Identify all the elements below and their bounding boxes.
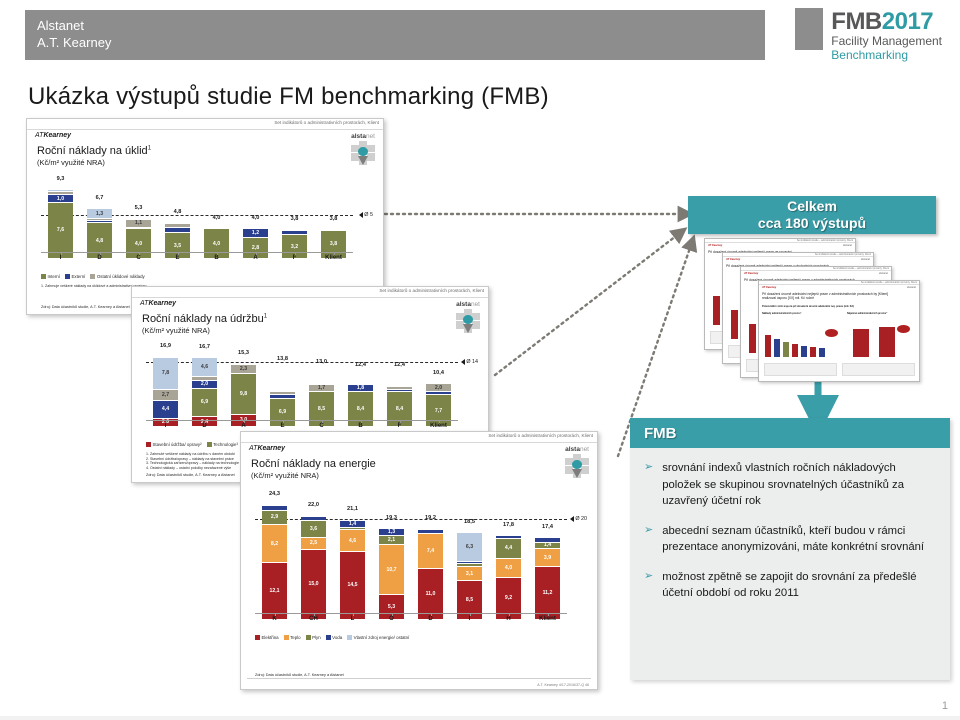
bar-segment: 2,1 — [379, 536, 403, 546]
legend-label: Externí — [71, 274, 85, 279]
average-marker: Ø 20 — [570, 516, 587, 522]
bar-column[interactable]: 1,07,6 — [48, 190, 72, 259]
x-axis-label: C — [302, 423, 341, 429]
slide-subtitle: (Kč/m² využité NRA) — [142, 326, 210, 335]
legend-item-2: Technologie³ — [207, 442, 238, 447]
brand-line-2: A.T. Kearney — [37, 34, 111, 51]
thumbnail-atkearney-logo: AT Kearney — [708, 244, 722, 247]
bar-total-label: 13,8 — [270, 356, 294, 362]
celkem-callout-box: Celkem cca 180 výstupů — [688, 196, 936, 234]
thumbnail-right-chart-label: Nájemné administrativních prostor² — [847, 312, 887, 315]
slide-brand-row: ATKearneyalstanet — [132, 298, 488, 311]
x-axis-label: H — [489, 616, 528, 622]
x-axis-label: C — [119, 255, 158, 261]
bar-segment: 6,9 — [192, 389, 216, 417]
legend-swatch-icon — [90, 274, 95, 279]
bullet-arrow-icon: ➢ — [644, 569, 653, 602]
bar-segment: 3,1 — [457, 567, 481, 581]
x-axis-label: I — [146, 423, 185, 429]
x-axis-label: D — [411, 616, 450, 622]
bar-column[interactable]: 4,44,09,2 — [496, 536, 520, 620]
slide-brand-row: ATKearneyalstanet — [241, 443, 597, 456]
chart-source: Zdroj: Data účastníků studie, A.T. Kearn… — [255, 673, 344, 677]
logo-year: 2017 — [882, 8, 933, 35]
thumbnail-context-text: Set indikátorů studie – administrativní … — [815, 253, 871, 256]
bar-segment: 4,6 — [340, 530, 364, 552]
bar-segment: 4,4 — [496, 539, 520, 559]
alstanet-flower-icon — [565, 454, 589, 478]
slide-title-footnote-marker: 1 — [148, 145, 151, 151]
thumbnail-atkearney-logo: AT Kearney — [744, 272, 758, 275]
thumbnail-subtitle: Potenciální roční úspora při dosažení úr… — [762, 305, 854, 308]
bar-column[interactable]: 3,62,515,0 — [301, 517, 325, 620]
bar-segment: 1,8 — [348, 385, 372, 392]
bar-total-label: 19,3 — [379, 515, 403, 521]
legend-swatch-icon — [347, 635, 352, 640]
thumbnail-context-bar: Set indikátorů studie – administrativní … — [723, 253, 873, 257]
legend-swatch-icon — [65, 274, 70, 279]
bar-column[interactable]: 2,39,83,0 — [231, 364, 255, 427]
thumbnail-mini-bar — [765, 335, 771, 357]
fmb-bullet-text: abecední seznam účastníků, kteří budou v… — [662, 523, 934, 556]
bar-segment: 12,1 — [262, 563, 286, 620]
chart-2: Ø 147,82,74,42,016,9I4,62,06,92,416,7D2,… — [146, 337, 458, 436]
bar-total-label: 3,8 — [282, 216, 306, 222]
legend-label: Voda — [332, 635, 342, 640]
slide-title-footnote-marker: 1 — [264, 313, 267, 319]
bar-total-label: 12,4 — [387, 362, 411, 368]
x-axis-label: B — [341, 423, 380, 429]
bar-segment: 4,0 — [496, 559, 520, 577]
atkearney-logo: ATKearney — [249, 445, 285, 452]
fmb-bullet-list: ➢srovnání indexů vlastních ročních nákla… — [630, 448, 950, 602]
bar-segment: 2,0 — [192, 381, 216, 389]
thumbnail-mini-bar — [810, 347, 816, 357]
x-axis-label: A — [224, 423, 263, 429]
bar-segment: 9,8 — [231, 374, 255, 414]
thumbnail-context-bar: Set indikátorů studie – administrativní … — [741, 267, 891, 271]
thumbnail-context-text: Set indikátorů studie – administrativní … — [861, 281, 917, 284]
bar-column[interactable]: 4,62,06,92,4 — [192, 358, 216, 427]
bar-total-label: 9,3 — [48, 176, 72, 182]
alstanet-logo: alstanet — [456, 301, 480, 308]
legend-swatch-icon — [306, 635, 311, 640]
bar-segment: 4,6 — [192, 358, 216, 377]
bar-segment: 2,9 — [262, 511, 286, 525]
thumbnail-alstanet-logo: alstanet — [843, 244, 852, 247]
legend-item-5: Vlastní zdroj energie/ ostatní — [347, 635, 409, 640]
bar-segment: 7,8 — [153, 358, 177, 390]
thumbnail-mini-bar — [801, 346, 807, 357]
legend-swatch-icon — [284, 635, 289, 640]
alstanet-logo: alstanet — [565, 446, 589, 453]
thumbnail-mini-bar — [792, 344, 798, 357]
bar-total-label: 17,8 — [496, 522, 520, 528]
fmb-panel-header: FMB — [630, 418, 950, 448]
thumbnail-left-chart-label: Náklady administrativních prostor¹ — [762, 312, 801, 315]
bar-total-label: 4,8 — [165, 209, 189, 215]
bar-segment: 1,0 — [48, 195, 72, 202]
thumbnail-note-box — [842, 363, 915, 376]
bar-column[interactable]: 7,82,74,42,0 — [153, 358, 177, 427]
logo-subtitle-2: Benchmarking — [831, 48, 942, 62]
x-axis-label: Klient — [528, 616, 567, 622]
bar-total-label: 15,3 — [231, 350, 255, 356]
legend-item-1: Elektřina — [255, 635, 279, 640]
x-axis-label: B — [197, 255, 236, 261]
thumbnail-highlight-oval — [825, 329, 838, 337]
bottom-band — [0, 716, 960, 720]
x-axis-label: L — [333, 616, 372, 622]
alstanet-flower-icon — [456, 309, 480, 333]
x-axis-label: O — [372, 616, 411, 622]
slide-subtitle: (Kč/m² využité NRA) — [251, 471, 319, 480]
logo-main: FMB2017 — [831, 9, 942, 34]
bar-segment: 2,7 — [153, 390, 177, 401]
logo-subtitle-1: Facility Management — [831, 34, 942, 48]
bar-total-label: 19,2 — [418, 515, 442, 521]
slide-title: Roční náklady na úklid1 — [37, 145, 151, 157]
fmb-bullet-1: ➢srovnání indexů vlastních ročních nákla… — [644, 460, 934, 510]
bar-total-label: 16,9 — [153, 343, 177, 349]
thumbnail-savings-bar — [879, 327, 895, 357]
average-arrow-icon — [359, 212, 363, 218]
bar-segment: 7,6 — [48, 203, 72, 259]
logo-square-icon — [795, 8, 823, 50]
average-marker: Ø 14 — [461, 359, 478, 365]
bar-total-label: 17,4 — [535, 524, 559, 530]
x-axis-line — [255, 613, 567, 614]
bar-total-label: 22,0 — [301, 502, 325, 508]
legend-swatch-icon — [326, 635, 331, 640]
bar-total-label: 16,7 — [192, 344, 216, 350]
slide-context-text: Set indikátorů o administrativních prost… — [274, 120, 379, 125]
alstanet-logo: alstanet — [351, 133, 375, 140]
x-axis-label: F — [275, 255, 314, 261]
x-axis-label: I — [450, 616, 489, 622]
chart-3: Ø 202,98,212,124,3K3,62,515,022,0CH1,44,… — [255, 482, 567, 629]
slide-context-bar: Set indikátorů o administrativních prost… — [241, 432, 597, 443]
bar-segment: 2,3 — [231, 365, 255, 374]
legend-swatch-icon — [207, 442, 212, 447]
bar-total-label: 10,4 — [426, 370, 450, 376]
page-number: 1 — [942, 700, 948, 712]
slide-page-footer: A.T. Kearney 4/17-2016/37-Q 46 — [537, 683, 589, 687]
bar-column[interactable]: 7,411,0 — [418, 530, 442, 620]
bar-segment: 8,2 — [262, 525, 286, 563]
bullet-arrow-icon: ➢ — [644, 460, 653, 510]
average-arrow-icon — [461, 359, 465, 365]
average-arrow-icon — [570, 516, 574, 522]
slide-context-bar: Set indikátorů o administrativních prost… — [132, 287, 488, 298]
thumbnail-mini-bar — [819, 348, 825, 357]
x-axis-label: E — [158, 255, 197, 261]
celkem-line-1: Celkem — [787, 198, 837, 215]
chart-1: Ø 51,07,69,3I1,34,86,7D1,14,05,3C3,54,8E… — [41, 169, 353, 268]
page-header: Alstanet A.T. Kearney FMB2017 Facility M… — [0, 0, 960, 70]
legend-item-1: Interní — [41, 274, 60, 279]
bar-column[interactable]: 1,78,5 — [309, 374, 333, 427]
celkem-line-2: cca 180 výstupů — [758, 215, 866, 232]
thumbnail-savings-bar — [853, 329, 869, 357]
x-axis-label: CH — [294, 616, 333, 622]
bar-segment: 1,7 — [309, 385, 333, 392]
bar-column[interactable]: 6,9 — [270, 370, 294, 427]
bar-segment: 1,1 — [126, 220, 150, 228]
slide-context-text: Set indikátorů o administrativních prost… — [488, 433, 593, 438]
legend-label: Elektřina — [262, 635, 279, 640]
brand-line-1: Alstanet — [37, 17, 111, 34]
legend-label: Ostatní úklidové náklady — [97, 274, 145, 279]
bar-segment: 2,0 — [426, 384, 450, 392]
bar-column[interactable]: 6,33,18,5 — [457, 533, 481, 620]
bar-total-label: 3,8 — [321, 216, 345, 222]
thumbnail-mini-bar — [774, 339, 780, 357]
bar-total-label: 13,0 — [309, 359, 333, 365]
legend-item-3: Ostatní úklidové náklady — [90, 274, 144, 279]
logo-text: FMB2017 Facility Management Benchmarking — [831, 8, 942, 62]
bar-segment: 3,9 — [535, 549, 559, 567]
x-axis-line — [41, 252, 353, 253]
bar-segment: 10,7 — [379, 545, 403, 595]
atkearney-logo: ATKearney — [35, 132, 71, 139]
legend-item-2: Externí — [65, 274, 85, 279]
x-axis-label: I — [41, 255, 80, 261]
bar-segment: 6,3 — [457, 533, 481, 562]
x-axis-line — [146, 420, 458, 421]
thumbnail-alstanet-logo: alstanet — [879, 272, 888, 275]
slide-brand-row: ATKearneyalstanet — [27, 130, 383, 143]
bar-column[interactable]: 1,32,110,75,3 — [379, 529, 403, 620]
x-axis-label: D — [80, 255, 119, 261]
page-title: Ukázka výstupů studie FM benchmarking (F… — [28, 83, 549, 111]
average-marker: Ø 5 — [359, 212, 373, 218]
bar-total-label: 6,7 — [87, 195, 111, 201]
thumbnail-atkearney-logo: AT Kearney — [762, 286, 776, 289]
legend-item-1: Stavební údržba/ opravy² — [146, 442, 202, 447]
legend-label: Stavební údržba/ opravy² — [153, 442, 202, 447]
bar-column[interactable]: 1,44,614,5 — [340, 521, 364, 620]
legend-label: Interní — [48, 274, 60, 279]
fmb-info-panel: FMB ➢srovnání indexů vlastních ročních n… — [630, 418, 950, 680]
legend-label: Vlastní zdroj energie/ ostatní — [354, 635, 410, 640]
legend-item-2: Teplo — [284, 635, 301, 640]
legend-label: Technologie³ — [213, 442, 238, 447]
bar-segment: 7,4 — [418, 534, 442, 569]
slide-context-bar: Set indikátorů o administrativních prost… — [27, 119, 383, 130]
bullet-arrow-icon: ➢ — [644, 523, 653, 556]
bar-segment: 1,2 — [243, 229, 267, 238]
bar-total-label: 12,4 — [348, 362, 372, 368]
thumbnail-alstanet-logo: alstanet — [907, 286, 916, 289]
logo-fmb: FMB — [831, 8, 881, 35]
bar-column[interactable]: 2,98,212,1 — [262, 506, 286, 620]
thumbnail-mini-bar — [783, 342, 789, 357]
x-axis-label: Klient — [314, 255, 353, 261]
thumbnail-mini-bar — [713, 296, 720, 325]
bar-segment: 1,3 — [87, 209, 111, 219]
legend-swatch-icon — [146, 442, 151, 447]
bar-total-label: 24,3 — [262, 491, 286, 497]
average-label: Ø 14 — [466, 359, 478, 365]
thumbnail-alstanet-logo: alstanet — [861, 258, 870, 261]
thumbnail-context-bar: Set indikátorů studie – administrativní … — [759, 281, 919, 285]
bar-total-label: 21,1 — [340, 506, 364, 512]
fmb-bullet-text: srovnání indexů vlastních ročních náklad… — [662, 460, 934, 510]
chart-legend: InterníExterníOstatní úklidové náklady — [41, 274, 371, 279]
x-axis-label: K — [255, 616, 294, 622]
bar-total-label: 5,3 — [126, 205, 150, 211]
slide-subtitle: (Kč/m² využité NRA) — [37, 158, 105, 167]
legend-item-3: Plyn — [306, 635, 321, 640]
thumbnail-highlight-oval — [897, 325, 910, 333]
thumbnail-atkearney-logo: AT Kearney — [726, 258, 740, 261]
bar-total-label: 18,5 — [457, 519, 481, 525]
bar-segment: 15,0 — [301, 550, 325, 620]
x-axis-label: D — [185, 423, 224, 429]
average-label: Ø 20 — [575, 516, 587, 522]
brand-block: Alstanet A.T. Kearney — [25, 10, 765, 60]
thumbnail-context-text: Set indikátorů studie – administrativní … — [797, 239, 853, 242]
legend-swatch-icon — [255, 635, 260, 640]
slide-context-text: Set indikátorů o administrativních prost… — [379, 288, 484, 293]
thumbnail-mini-bar — [749, 324, 756, 353]
atkearney-logo: ATKearney — [140, 300, 176, 307]
chart-legend: ElektřinaTeploPlynVodaVlastní zdroj ener… — [255, 635, 585, 640]
brand-lines: Alstanet A.T. Kearney — [37, 17, 111, 51]
legend-label: Teplo — [290, 635, 301, 640]
x-axis-label: F — [380, 423, 419, 429]
thumbnail-slide-4[interactable]: Set indikátorů studie – administrativní … — [758, 280, 920, 382]
bar-total-label: 4,0 — [243, 215, 267, 221]
average-label: Ø 5 — [364, 212, 373, 218]
fmb-bullet-text: možnost zpětně se zapojit do srovnání za… — [662, 569, 934, 602]
chart-source: Zdroj: Data účastníků studie, A.T. Kearn… — [146, 473, 235, 477]
thumbnail-title: Při dosažení úrovně adekvátní nejlepší p… — [762, 292, 903, 301]
legend-swatch-icon — [41, 274, 46, 279]
legend-item-4: Voda — [326, 635, 343, 640]
slide-footer-divider — [247, 678, 591, 679]
slide-title: Roční náklady na údržbu1 — [142, 313, 267, 325]
x-axis-label: Klient — [419, 423, 458, 429]
thumbnail-context-text: Set indikátorů studie – administrativní … — [833, 267, 889, 270]
fmb2017-logo: FMB2017 Facility Management Benchmarking — [795, 8, 942, 63]
bar-total-label: 4,0 — [204, 215, 228, 221]
bar-segment: 2,5 — [301, 538, 325, 550]
bar-segment: 4,4 — [153, 401, 177, 419]
x-axis-label: A — [236, 255, 275, 261]
legend-label: Plyn — [312, 635, 321, 640]
slide-title: Roční náklady na energie — [251, 458, 376, 470]
x-axis-label: E — [263, 423, 302, 429]
bar-segment: 3,6 — [301, 521, 325, 538]
alstanet-flower-icon — [351, 141, 375, 165]
slide-card-3[interactable]: Set indikátorů o administrativních prost… — [240, 431, 598, 690]
fmb-bullet-2: ➢abecední seznam účastníků, kteří budou … — [644, 523, 934, 556]
arrow-slide2-to-celkem — [495, 236, 676, 375]
thumbnail-note-box — [764, 363, 837, 376]
thumbnail-context-bar: Set indikátorů studie – administrativní … — [705, 239, 855, 243]
bar-column[interactable]: 1,43,911,2 — [535, 538, 559, 620]
fmb-bullet-3: ➢možnost zpětně se zapojit do srovnání z… — [644, 569, 934, 602]
thumbnail-mini-bar — [731, 310, 738, 339]
chart-source: Zdroj: Data účastníků studie, A.T. Kearn… — [41, 305, 130, 309]
bar-segment: 14,5 — [340, 552, 364, 620]
